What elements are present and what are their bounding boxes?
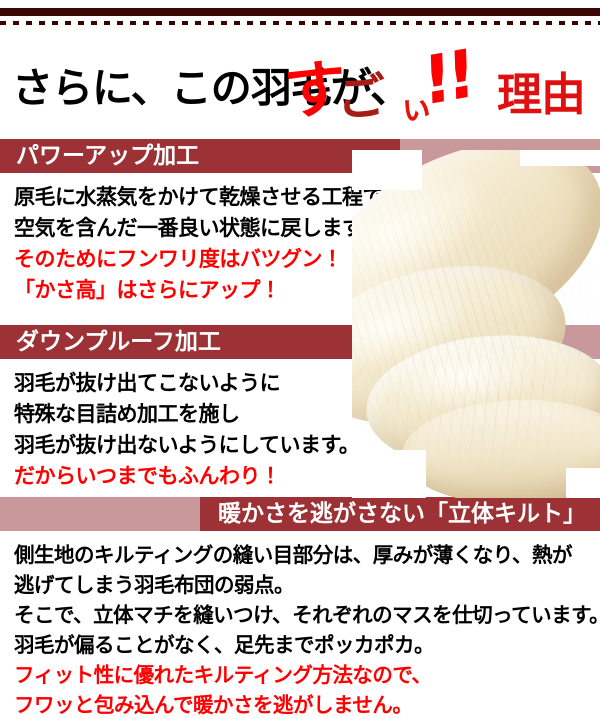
section-header-solid-quilt: 暖かさを逃がさない「立体キルト」 xyxy=(0,497,600,531)
page-title: さらに、この羽毛が、 す ご ぃ !! 理由 xyxy=(0,46,600,118)
advertisement-page: さらに、この羽毛が、 す ご ぃ !! 理由 パワーアップ加工 原毛に水蒸気をか… xyxy=(0,0,600,719)
section-body-solid-quilt: 側生地のキルティングの縫い目部分は、厚みが薄くなり、熱が 逃げてしまう羽毛布団の… xyxy=(14,540,600,719)
body-line: 空気を含んだ一番良い状態に戻します。 xyxy=(14,213,527,244)
section-header-power-up: パワーアップ加工 xyxy=(0,139,600,173)
section-header-down-proof: ダウンプルーフ加工 xyxy=(0,325,600,359)
headline-emphasis-go: ご xyxy=(334,57,384,131)
body-line: だからいつまでもふんわり！ xyxy=(14,461,359,492)
header-bar-light-segment xyxy=(400,325,600,359)
body-line: フワッと包み込んで暖かさを逃がしません。 xyxy=(14,690,600,719)
body-line: 側生地のキルティングの縫い目部分は、厚みが薄くなり、熱が xyxy=(14,540,600,570)
section-heading-label: パワーアップ加工 xyxy=(16,139,199,173)
photo-mask-bottom-right xyxy=(566,468,600,498)
body-line: 逃げてしまう羽毛布団の弱点。 xyxy=(14,570,600,600)
body-line: 「かさ高」はさらにアップ！ xyxy=(14,275,527,306)
photo-mask-bottom-left xyxy=(352,450,426,498)
body-line: 特殊な目詰め加工を施し xyxy=(14,399,359,430)
body-line: 羽毛が抜け出ないようにしています。 xyxy=(14,430,359,461)
section-heading-label: 暖かさを逃がさない「立体キルト」 xyxy=(218,497,586,531)
header-bar-light-segment xyxy=(0,497,200,531)
body-line: フィット性に優れたキルティング方法なので、 xyxy=(14,660,600,690)
header-bar-light-segment xyxy=(400,139,600,173)
section-body-down-proof: 羽毛が抜け出てこないように 特殊な目詰め加工を施し 羽毛が抜け出ないようにしてい… xyxy=(14,368,359,492)
body-line: 原毛に水蒸気をかけて乾燥させる工程でダウンボールを xyxy=(14,182,527,213)
section-body-power-up: 原毛に水蒸気をかけて乾燥させる工程でダウンボールを 空気を含んだ一番良い状態に戻… xyxy=(14,182,527,306)
body-line: 羽毛が抜け出てこないように xyxy=(14,368,359,399)
headline-reason-text: 理由 xyxy=(497,58,585,123)
headline-exclamation: !! xyxy=(421,35,471,121)
body-line: そのためにフンワリ度はバツグン！ xyxy=(14,244,527,275)
body-line: 羽毛が偏ることがなく、足先までポッカポカ。 xyxy=(14,630,600,660)
top-rule-solid xyxy=(0,8,600,16)
comforter-bottom-fold xyxy=(400,396,600,498)
body-line: そこで、立体マチを縫いつけ、それぞれのマスを仕切っています。 xyxy=(14,600,600,630)
section-heading-label: ダウンプルーフ加工 xyxy=(16,325,221,359)
top-rule-dashed xyxy=(0,21,600,25)
